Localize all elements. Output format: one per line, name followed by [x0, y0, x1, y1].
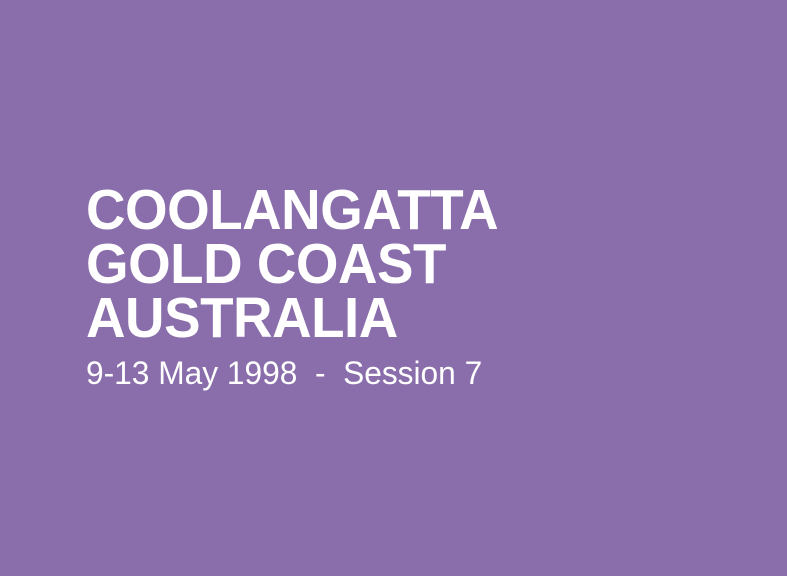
title-text-block: COOLANGATTA GOLD COAST AUSTRALIA 9-13 Ma…: [86, 183, 726, 390]
event-subtitle: 9-13 May 1998 - Session 7: [86, 356, 720, 390]
headline-line-location: COOLANGATTA: [86, 183, 700, 237]
headline-line-country: AUSTRALIA: [86, 291, 700, 345]
event-headline: COOLANGATTA GOLD COAST AUSTRALIA: [86, 183, 726, 345]
headline-line-region: GOLD COAST: [86, 237, 700, 291]
event-title-card: COOLANGATTA GOLD COAST AUSTRALIA 9-13 Ma…: [0, 0, 787, 576]
